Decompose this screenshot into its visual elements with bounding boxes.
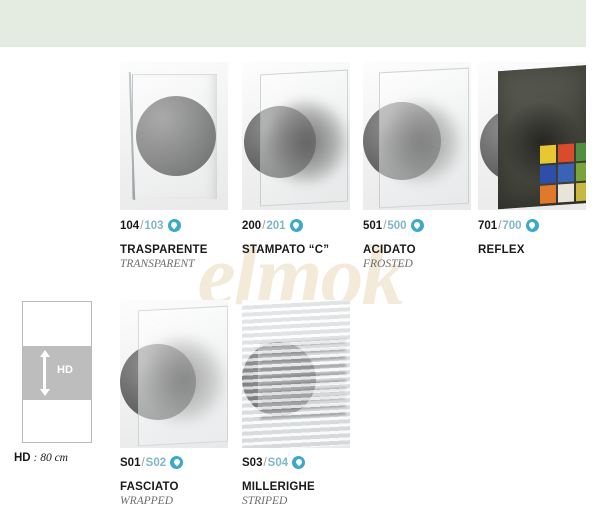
variant-codes: S01/S02 bbox=[120, 456, 255, 470]
hd-diagram: HD bbox=[22, 301, 92, 443]
variant-codes: 701/700 bbox=[478, 219, 600, 233]
variant-name-en: FROSTED bbox=[363, 258, 498, 270]
water-drop-icon bbox=[526, 219, 539, 232]
glass-sample-image bbox=[120, 62, 228, 210]
checker-swatch bbox=[576, 142, 586, 161]
variant-code-alt: 700 bbox=[502, 220, 521, 232]
variant-codes: 104/103 bbox=[120, 219, 255, 233]
glass-pane bbox=[132, 74, 217, 199]
glass-sample-image bbox=[363, 62, 471, 210]
checker-swatch bbox=[558, 183, 574, 202]
variant-name-it: STAMPATO “C” bbox=[242, 244, 377, 256]
variant-thumbnail[interactable] bbox=[242, 300, 350, 448]
variant-name-it: FASCIATO bbox=[120, 481, 255, 493]
diffused-sphere bbox=[264, 100, 348, 184]
checker-swatch bbox=[540, 165, 556, 184]
variant-caption-reflex: 701/700 REFLEX bbox=[478, 219, 600, 258]
variant-code: S03 bbox=[242, 457, 262, 469]
water-drop-icon bbox=[168, 219, 181, 232]
variant-name-en: WRAPPED bbox=[120, 495, 255, 507]
hd-caption-value: : 80 cm bbox=[31, 452, 68, 464]
variant-codes: S03/S04 bbox=[242, 456, 377, 470]
variant-code: 104 bbox=[120, 220, 139, 232]
checker-swatch bbox=[558, 163, 574, 182]
variant-thumbnail[interactable] bbox=[363, 62, 471, 210]
diffused-sphere bbox=[140, 338, 224, 422]
hd-arrow-icon bbox=[39, 350, 50, 396]
variant-code: 200 bbox=[242, 220, 261, 232]
variant-caption-millerighe: S03/S04 MILLERIGHE STRIPED bbox=[242, 456, 377, 507]
glass-sample-image bbox=[478, 62, 586, 210]
variant-name-it: MILLERIGHE bbox=[242, 481, 377, 493]
glass-sample-image bbox=[242, 62, 350, 210]
hd-caption-key: HD bbox=[14, 452, 31, 464]
glass-sample-image bbox=[242, 300, 350, 448]
arrow-head-down bbox=[40, 389, 50, 396]
variant-code: 701 bbox=[478, 220, 497, 232]
water-drop-icon bbox=[290, 219, 303, 232]
variant-codes: 200/201 bbox=[242, 219, 377, 233]
variant-thumbnail[interactable] bbox=[120, 62, 228, 210]
variant-thumbnail[interactable] bbox=[242, 62, 350, 210]
water-drop-icon bbox=[411, 219, 424, 232]
variant-code-alt: 201 bbox=[266, 220, 285, 232]
diffused-sphere bbox=[379, 102, 461, 182]
variant-caption-stampato-c: 200/201 STAMPATO “C” bbox=[242, 219, 377, 258]
glass-sample-image bbox=[120, 300, 228, 448]
checker-swatch bbox=[540, 145, 556, 164]
checker-swatch bbox=[576, 182, 586, 201]
variant-name-en: STRIPED bbox=[242, 495, 377, 507]
water-drop-icon bbox=[170, 456, 183, 469]
variant-thumbnail[interactable] bbox=[478, 62, 586, 210]
checker-swatch bbox=[576, 162, 586, 181]
arrow-shaft bbox=[43, 355, 46, 391]
variant-thumbnail[interactable] bbox=[120, 300, 228, 448]
variant-code-alt: S02 bbox=[146, 457, 166, 469]
variant-code-alt: 103 bbox=[144, 220, 163, 232]
variant-code: S01 bbox=[120, 457, 140, 469]
color-checker-chart bbox=[540, 142, 586, 204]
water-drop-icon bbox=[292, 456, 305, 469]
hd-caption: HD : 80 cm bbox=[14, 452, 68, 464]
checker-swatch bbox=[558, 143, 574, 162]
variant-code: 501 bbox=[363, 220, 382, 232]
checker-swatch bbox=[540, 185, 556, 204]
striped-texture bbox=[242, 300, 350, 448]
variant-name-it: REFLEX bbox=[478, 244, 600, 256]
variant-caption-trasparente: 104/103 TRASPARENTE TRANSPARENT bbox=[120, 219, 255, 270]
hd-arrow-label: HD bbox=[57, 364, 73, 376]
variant-caption-fasciato: S01/S02 FASCIATO WRAPPED bbox=[120, 456, 255, 507]
variant-name-en: TRANSPARENT bbox=[120, 258, 255, 270]
variant-code-alt: 500 bbox=[387, 220, 406, 232]
variant-name-it: TRASPARENTE bbox=[120, 244, 255, 256]
variant-code-alt: S04 bbox=[268, 457, 288, 469]
